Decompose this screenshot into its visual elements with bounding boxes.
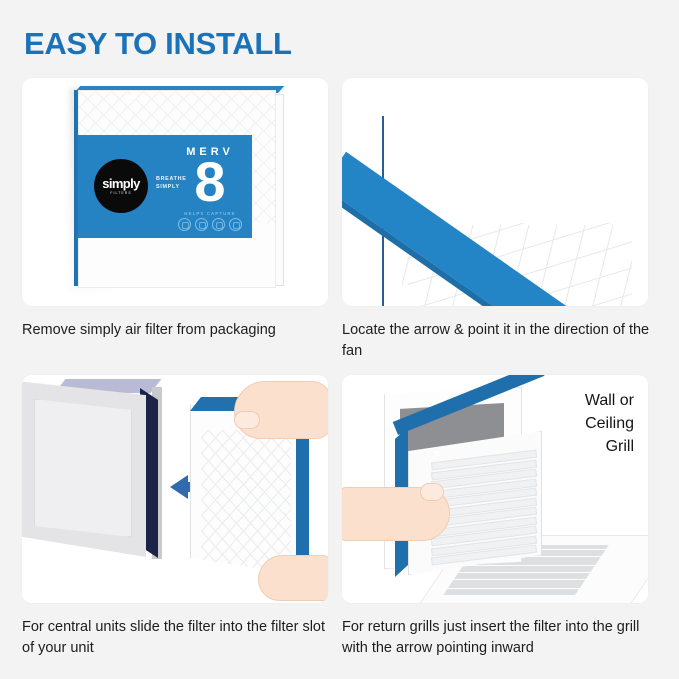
brand-name: simply xyxy=(102,178,140,190)
step-card-1: simply FILTERS BREATHE SIMPLY MERV 8 HEL… xyxy=(22,78,334,341)
brand-subname: FILTERS xyxy=(110,191,131,195)
step-1-caption: Remove simply air filter from packaging xyxy=(22,320,334,341)
grill-label-line-3: Grill xyxy=(524,435,634,458)
dander-icon xyxy=(212,218,225,231)
unit-inner-panel xyxy=(34,399,132,537)
step-1-illustration: simply FILTERS BREATHE SIMPLY MERV 8 HEL… xyxy=(22,78,328,306)
merv-value: 8 xyxy=(174,153,246,211)
step-card-3: For central units slide the filter into … xyxy=(22,375,334,659)
grill-type-label: Wall or Ceiling Grill xyxy=(524,389,634,458)
step-3-illustration xyxy=(22,375,328,603)
package-airflow-arrows-icon xyxy=(128,93,154,101)
step-card-2: Locate the arrow & point it in the direc… xyxy=(342,78,654,362)
page-title: EASY TO INSTALL xyxy=(24,26,292,62)
thumb xyxy=(420,483,444,501)
helps-capture-label: HELPS CAPTURE xyxy=(174,211,246,216)
package-label-band: simply FILTERS BREATHE SIMPLY MERV 8 HEL… xyxy=(78,135,252,238)
brand-logo: simply FILTERS xyxy=(94,159,148,213)
pollen-icon xyxy=(178,218,191,231)
mold-icon xyxy=(229,218,242,231)
filter-arrow-marker-icon xyxy=(430,447,446,457)
step-4-illustration: Wall or Ceiling Grill xyxy=(342,375,648,603)
hand-upper xyxy=(234,381,328,439)
step-3-caption: For central units slide the filter into … xyxy=(22,617,334,659)
capture-icons xyxy=(174,218,246,231)
step-2-caption: Locate the arrow & point it in the direc… xyxy=(342,320,654,362)
pleat-pattern xyxy=(201,430,291,568)
arrow-up-right-icon xyxy=(482,156,516,190)
step-4-caption: For return grills just insert the filter… xyxy=(342,617,654,659)
thumb-upper xyxy=(234,411,260,429)
grill-label-line-2: Ceiling xyxy=(524,412,634,435)
step-2-illustration xyxy=(342,78,648,306)
grill-label-line-1: Wall or xyxy=(524,389,634,412)
airflow-arrows xyxy=(452,136,522,186)
step-card-4: Wall or Ceiling Grill For return grills … xyxy=(342,375,654,659)
arrow-up-right-icon xyxy=(452,136,486,170)
hand-lower xyxy=(258,555,328,601)
dust-icon xyxy=(195,218,208,231)
install-instructions-page: EASY TO INSTALL s xyxy=(0,0,679,679)
